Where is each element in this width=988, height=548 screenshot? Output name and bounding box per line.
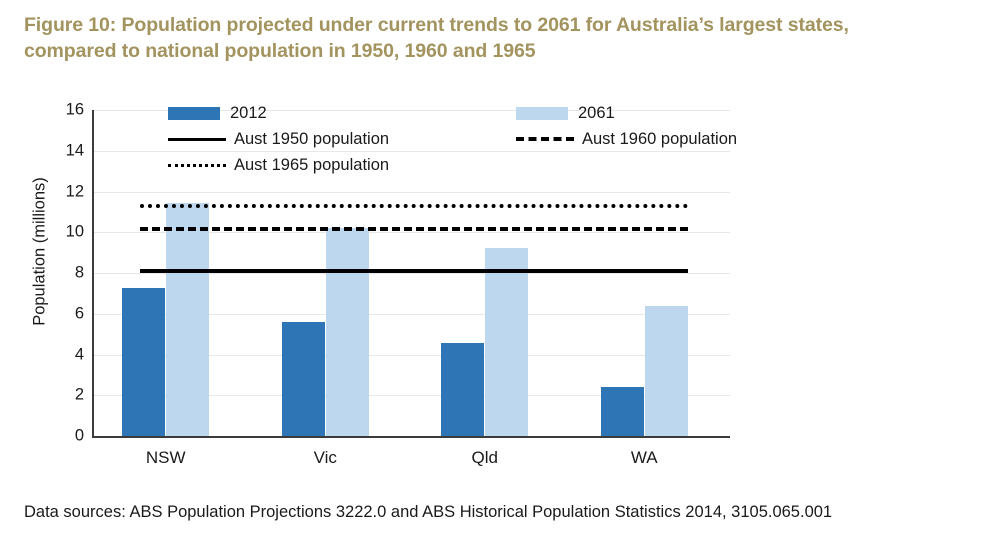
figure-title-line-2: compared to national population in 1950,… — [24, 38, 974, 64]
bar-wa-2061 — [645, 306, 688, 436]
legend-label: 2012 — [230, 104, 267, 123]
legend-line-dashed-icon — [516, 137, 574, 141]
legend-line-solid-icon — [168, 138, 226, 141]
x-axis-tick-label-vic: Vic — [265, 448, 385, 468]
legend-row: 20122061 — [168, 100, 728, 126]
legend-row: Aust 1965 population — [168, 152, 728, 178]
legend-line-dotted-icon — [168, 164, 226, 167]
y-axis-tick-label: 16 — [44, 101, 84, 120]
y-axis-tick-label: 6 — [44, 304, 84, 323]
chart-legend: 20122061Aust 1950 populationAust 1960 po… — [168, 100, 728, 178]
figure-title: Figure 10: Population projected under cu… — [24, 12, 974, 64]
figure-title-line-1: Figure 10: Population projected under cu… — [24, 12, 974, 38]
legend-item-2012[interactable]: 2012 — [168, 100, 267, 126]
legend-row: Aust 1950 populationAust 1960 population — [168, 126, 728, 152]
legend-label: Aust 1965 population — [234, 156, 389, 175]
y-axis-tick-labels: 0246810121416 — [36, 110, 84, 436]
bar-nsw-2061 — [166, 203, 209, 436]
reference-line-aust-1965-population — [140, 204, 688, 208]
bar-vic-2061 — [326, 228, 369, 436]
bar-wa-2012 — [601, 387, 644, 436]
y-axis-tick-label: 0 — [44, 427, 84, 446]
x-axis-tick-label-qld: Qld — [425, 448, 545, 468]
legend-swatch-icon — [516, 107, 568, 120]
chart-area: Population (millions) 0246810121416 NSWV… — [0, 92, 988, 487]
bar-nsw-2012 — [122, 288, 165, 436]
y-axis-tick-label: 4 — [44, 345, 84, 364]
bar-vic-2012 — [282, 322, 325, 436]
x-axis-tick-label-nsw: NSW — [106, 448, 226, 468]
y-axis-tick-label: 12 — [44, 182, 84, 201]
legend-item-aust-1960-population[interactable]: Aust 1960 population — [516, 126, 737, 152]
x-axis-line — [92, 436, 730, 438]
legend-item-2061[interactable]: 2061 — [516, 100, 615, 126]
legend-label: 2061 — [578, 104, 615, 123]
legend-label: Aust 1950 population — [234, 130, 389, 149]
bar-qld-2012 — [441, 343, 484, 436]
gridline — [92, 192, 730, 193]
y-axis-tick-label: 2 — [44, 386, 84, 405]
y-axis-tick-label: 14 — [44, 141, 84, 160]
data-source-note: Data sources: ABS Population Projections… — [24, 503, 832, 522]
reference-line-aust-1960-population — [140, 227, 688, 231]
x-axis-tick-label-wa: WA — [584, 448, 704, 468]
legend-item-aust-1965-population[interactable]: Aust 1965 population — [168, 152, 389, 178]
legend-item-aust-1950-population[interactable]: Aust 1950 population — [168, 126, 389, 152]
legend-label: Aust 1960 population — [582, 130, 737, 149]
y-axis-tick-label: 8 — [44, 264, 84, 283]
y-axis-line — [92, 110, 94, 437]
bar-qld-2061 — [485, 248, 528, 436]
reference-line-aust-1950-population — [140, 269, 688, 273]
legend-swatch-icon — [168, 107, 220, 120]
y-axis-tick-label: 10 — [44, 223, 84, 242]
